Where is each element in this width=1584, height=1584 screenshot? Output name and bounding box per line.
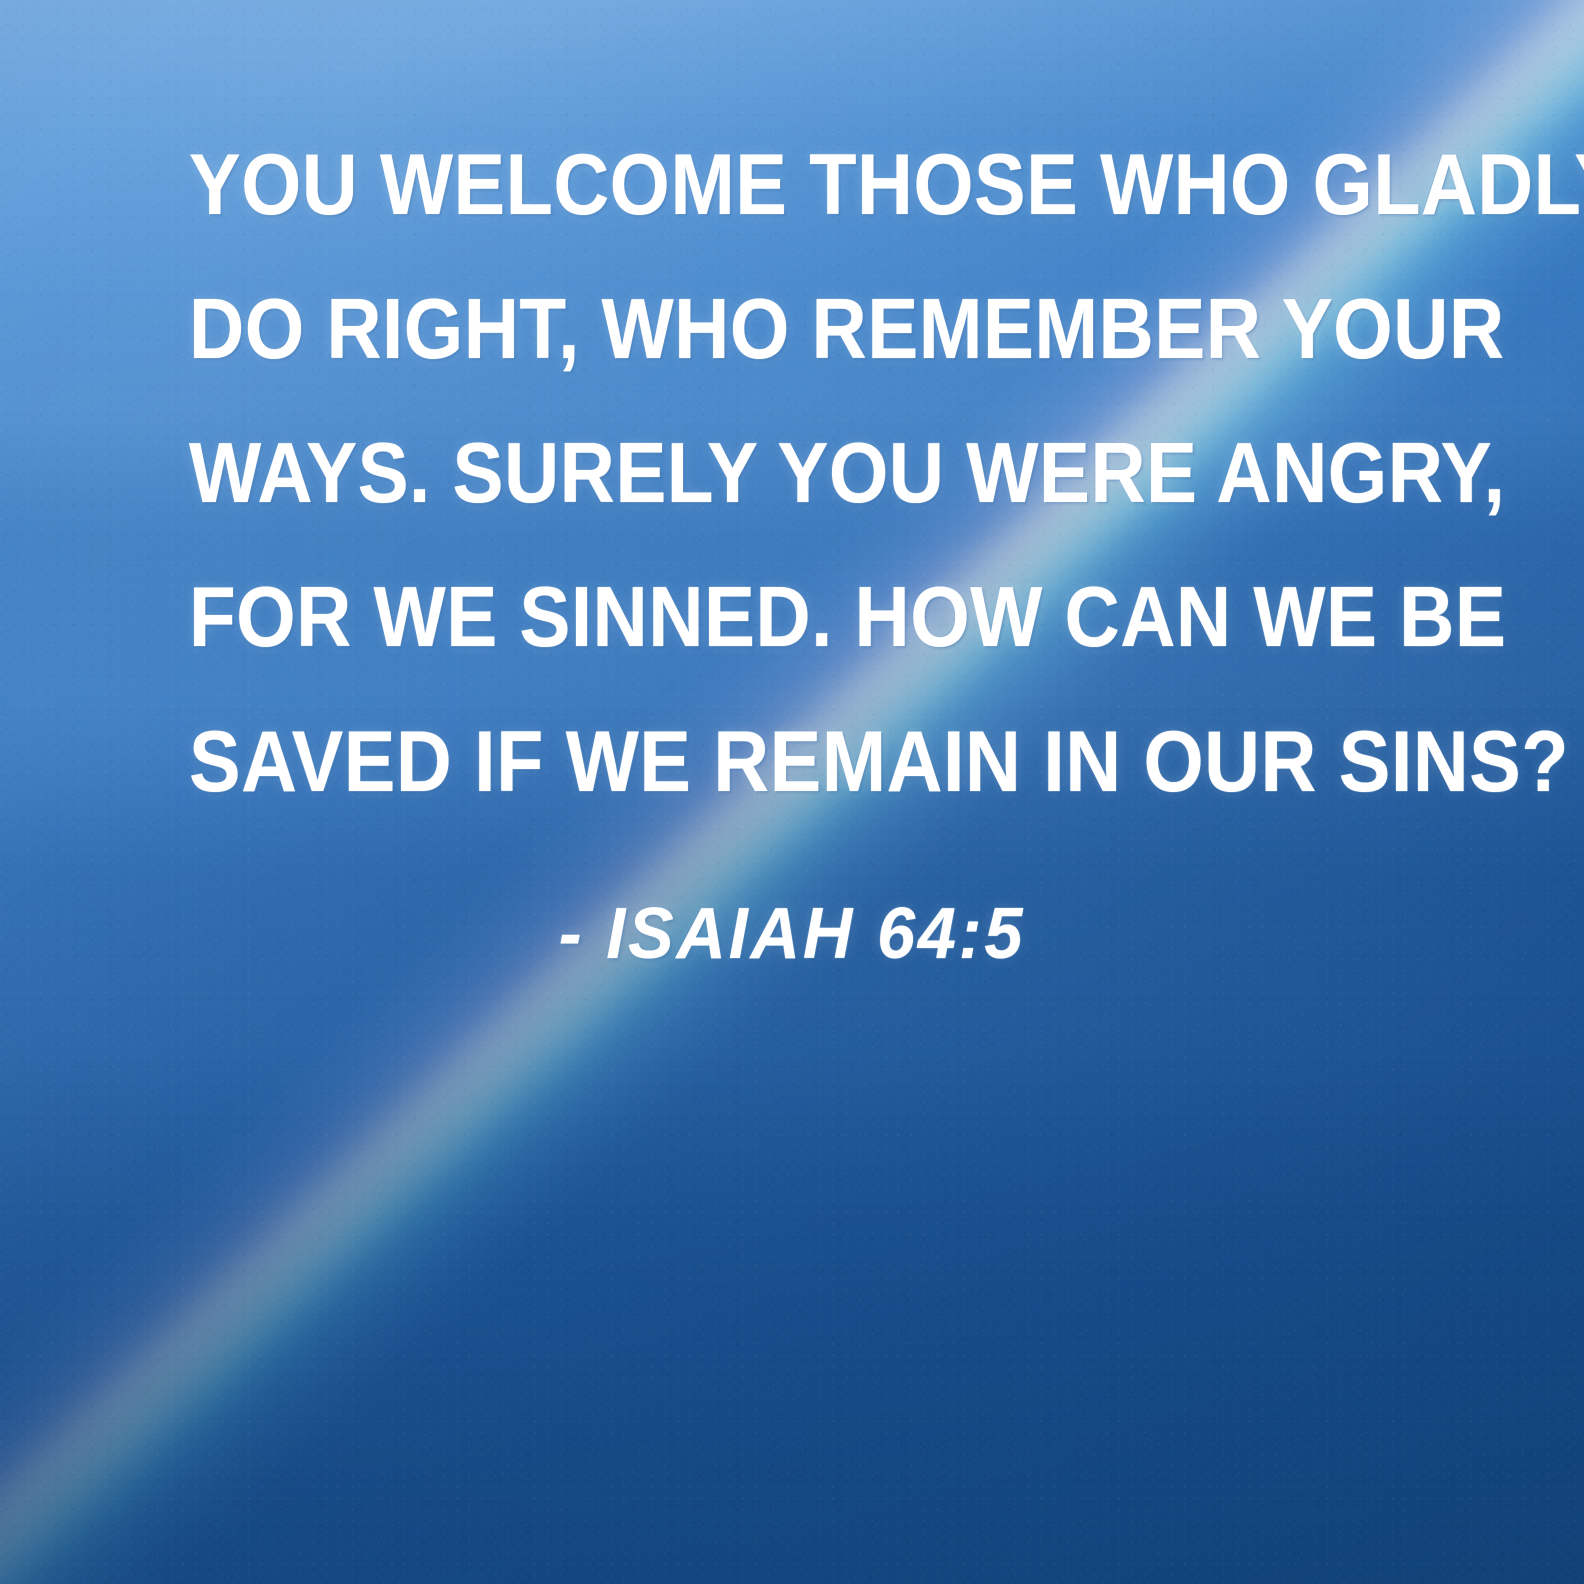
verse-text-block: YOU WELCOME THOSE WHO GLADLY DO RIGHT, W… — [0, 0, 1584, 1584]
verse-line-2: DO RIGHT, WHO REMEMBER YOUR — [189, 287, 1395, 372]
verse-line-3: WAYS. SURELY YOU WERE ANGRY, — [189, 431, 1395, 516]
verse-line-5: SAVED IF WE REMAIN IN OUR SINS? — [189, 719, 1395, 805]
verse-reference: - ISAIAH 64:5 — [156, 893, 1429, 975]
verse-line-1: YOU WELCOME THOSE WHO GLADLY — [189, 142, 1395, 228]
verse-line-4: FOR WE SINNED. HOW CAN WE BE — [189, 575, 1395, 660]
verse-image-canvas: YOU WELCOME THOSE WHO GLADLY DO RIGHT, W… — [0, 0, 1584, 1584]
